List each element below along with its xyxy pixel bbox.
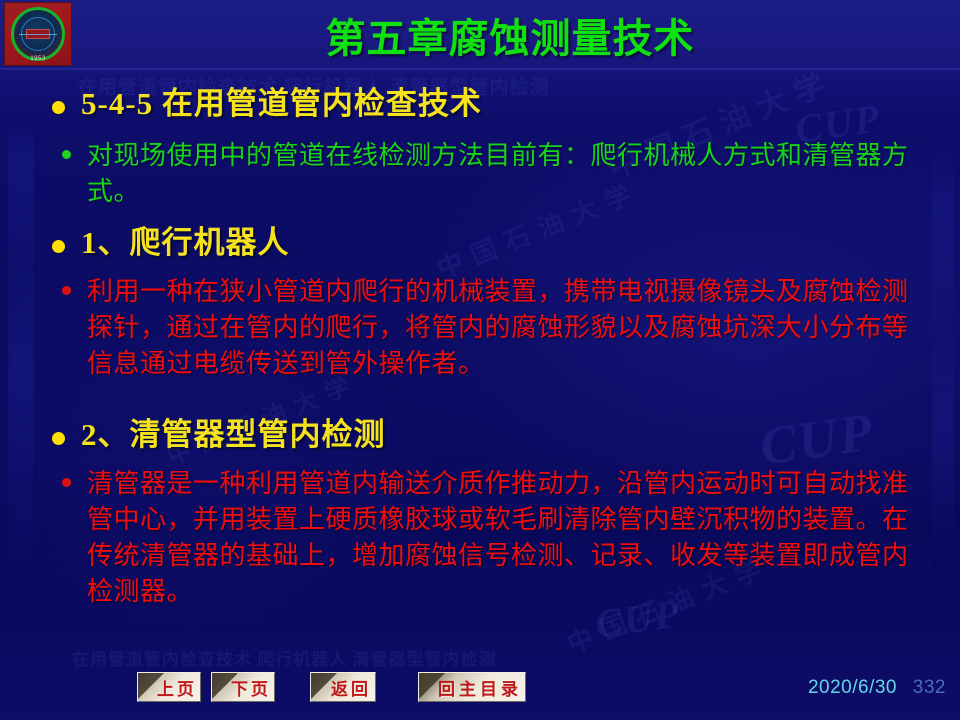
slide-body: 5-4-5 在用管道管内检查技术 对现场使用中的管道在线检测方法目前有：爬行机械…	[0, 78, 960, 638]
next-page-label: 下页	[215, 675, 271, 700]
logo-year-label: 1953	[5, 56, 71, 62]
slide-page-number: 332	[913, 677, 946, 699]
paragraph-1-text: 对现场使用中的管道在线检测方法目前有：爬行机械人方式和清管器方式。	[87, 138, 932, 210]
heading-2-text: 1、爬行机器人	[81, 226, 290, 261]
slide-date: 2020/6/30	[808, 677, 897, 699]
bullet-paragraph-1: 对现场使用中的管道在线检测方法目前有：爬行机械人方式和清管器方式。	[62, 138, 932, 210]
slide-header: 1953 第五章腐蚀测量技术	[0, 0, 960, 70]
slide-canvas: 中国石油大学 中国石油大学 中国石油大学 中国石油大学 CUP CUP CUP …	[0, 0, 960, 720]
logo-core-icon	[26, 29, 50, 39]
bullet-dot-icon	[52, 240, 65, 253]
paragraph-2-text: 利用一种在狭小管道内爬行的机械装置，携带电视摄像镜头及腐蚀检测探针，通过在管内的…	[87, 274, 932, 382]
previous-page-label: 上页	[141, 675, 197, 700]
slide-footer: 上页 下页 返回 回主目录 2020/6/30 332	[0, 662, 960, 720]
return-button[interactable]: 返回	[310, 672, 376, 702]
main-menu-button[interactable]: 回主目录	[418, 672, 526, 702]
heading-1-text: 5-4-5 在用管道管内检查技术	[81, 87, 482, 122]
previous-page-button[interactable]: 上页	[137, 672, 201, 702]
bullet-heading-1: 5-4-5 在用管道管内检查技术	[52, 87, 482, 122]
bullet-dot-icon	[62, 150, 71, 159]
bullet-dot-icon	[62, 286, 71, 295]
return-label: 返回	[315, 675, 371, 700]
next-page-button[interactable]: 下页	[211, 672, 275, 702]
page-title: 第五章腐蚀测量技术	[80, 4, 940, 66]
university-logo: 1953	[4, 2, 72, 66]
logo-ring-icon	[11, 7, 65, 61]
main-menu-label: 回主目录	[422, 675, 522, 700]
heading-3-text: 2、清管器型管内检测	[81, 418, 386, 453]
bullet-paragraph-3: 清管器是一种利用管道内输送介质作推动力，沿管内运动时可自动找准管中心，并用装置上…	[62, 466, 932, 610]
paragraph-3-text: 清管器是一种利用管道内输送介质作推动力，沿管内运动时可自动找准管中心，并用装置上…	[87, 466, 932, 610]
bullet-paragraph-2: 利用一种在狭小管道内爬行的机械装置，携带电视摄像镜头及腐蚀检测探针，通过在管内的…	[62, 274, 932, 382]
bullet-dot-icon	[52, 101, 65, 114]
header-divider	[0, 68, 960, 71]
bullet-heading-2: 1、爬行机器人	[52, 226, 290, 261]
bullet-heading-3: 2、清管器型管内检测	[52, 418, 386, 453]
bullet-dot-icon	[52, 432, 65, 445]
bullet-dot-icon	[62, 478, 71, 487]
